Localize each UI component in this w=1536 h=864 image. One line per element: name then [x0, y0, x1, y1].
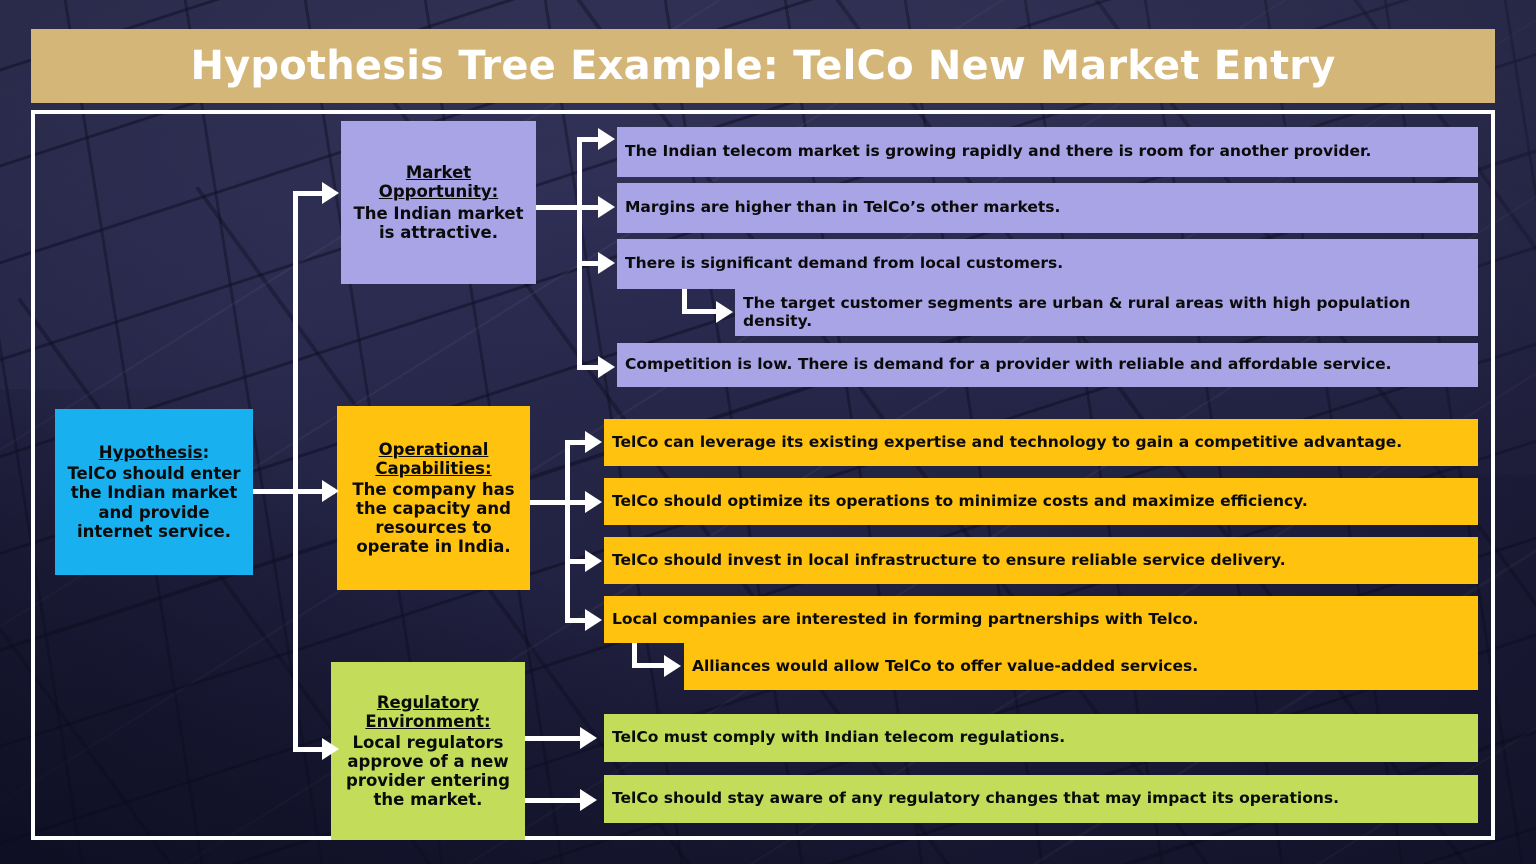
leaf-market-1-text: The Indian telecom market is growing rap… [625, 143, 1371, 161]
leaf-reg-1-text: TelCo must comply with Indian telecom re… [612, 729, 1065, 747]
leaf-ops-2-text: TelCo should optimize its operations to … [612, 493, 1308, 511]
node-market-opportunity[interactable]: Market Opportunity: The Indian market is… [341, 121, 536, 284]
node-hypothesis-colon: : [203, 443, 210, 462]
node-hypothesis-heading: Hypothesis [99, 443, 203, 462]
leaf-market-1[interactable]: The Indian telecom market is growing rap… [617, 127, 1478, 177]
leaf-ops-5-text: Alliances would allow TelCo to offer val… [692, 658, 1198, 676]
node-hypothesis-body: TelCo should enter the Indian market and… [61, 464, 247, 541]
leaf-ops-3[interactable]: TelCo should invest in local infrastruct… [604, 537, 1478, 584]
node-operational-capabilities-heading: Operational Capabilities: [343, 440, 524, 478]
node-hypothesis-root[interactable]: Hypothesis: TelCo should enter the India… [55, 409, 253, 575]
arrow-market-leaf-5 [598, 356, 615, 378]
leaf-market-2-text: Margins are higher than in TelCo’s other… [625, 199, 1060, 217]
node-operational-capabilities-body: The company has the capacity and resourc… [343, 480, 524, 557]
arrow-reg-leaf-2 [580, 789, 597, 811]
connector-ops-spine [565, 440, 570, 622]
leaf-ops-2[interactable]: TelCo should optimize its operations to … [604, 478, 1478, 525]
connector-market-out [536, 205, 582, 210]
connector-market-spine [577, 137, 582, 369]
arrow-market-leaf-1 [598, 128, 615, 150]
arrow-reg-leaf-1 [580, 727, 597, 749]
node-market-opportunity-body: The Indian market is attractive. [347, 204, 530, 242]
leaf-ops-1[interactable]: TelCo can leverage its existing expertis… [604, 419, 1478, 466]
arrow-spine-to-ops [322, 480, 339, 502]
leaf-market-5[interactable]: Competition is low. There is demand for … [617, 343, 1478, 387]
title-banner: Hypothesis Tree Example: TelCo New Marke… [31, 29, 1495, 103]
connector-root-out [253, 489, 298, 494]
node-regulatory-environment-body: Local regulators approve of a new provid… [337, 733, 519, 810]
arrow-market-leaf-3 [598, 252, 615, 274]
arrow-market-sub [716, 301, 733, 323]
arrow-ops-leaf-3 [585, 550, 602, 572]
arrow-ops-sub [664, 655, 681, 677]
connector-reg-leaf-1 [525, 736, 587, 741]
leaf-market-3-text: There is significant demand from local c… [625, 255, 1063, 273]
arrow-ops-leaf-4 [585, 609, 602, 631]
leaf-ops-1-text: TelCo can leverage its existing expertis… [612, 434, 1402, 452]
arrow-spine-to-market [322, 182, 339, 204]
leaf-reg-2[interactable]: TelCo should stay aware of any regulator… [604, 775, 1478, 823]
arrow-market-leaf-2 [598, 196, 615, 218]
leaf-market-4-text: The target customer segments are urban &… [743, 295, 1478, 331]
leaf-ops-4-text: Local companies are interested in formin… [612, 611, 1198, 629]
connector-reg-leaf-2 [525, 798, 587, 803]
node-regulatory-environment-heading: Regulatory Environment: [337, 693, 519, 731]
leaf-market-4-sub[interactable]: The target customer segments are urban &… [735, 289, 1478, 336]
leaf-ops-3-text: TelCo should invest in local infrastruct… [612, 552, 1286, 570]
slide-canvas: Hypothesis Tree Example: TelCo New Marke… [0, 0, 1536, 864]
node-hypothesis-heading-row: Hypothesis: [99, 443, 209, 462]
leaf-ops-4[interactable]: Local companies are interested in formin… [604, 596, 1478, 643]
leaf-reg-2-text: TelCo should stay aware of any regulator… [612, 790, 1339, 808]
leaf-ops-5-sub[interactable]: Alliances would allow TelCo to offer val… [684, 643, 1478, 690]
leaf-market-2[interactable]: Margins are higher than in TelCo’s other… [617, 183, 1478, 233]
arrow-spine-to-reg [322, 738, 339, 760]
connector-root-spine [293, 191, 298, 752]
arrow-ops-leaf-1 [585, 431, 602, 453]
leaf-market-3[interactable]: There is significant demand from local c… [617, 239, 1478, 289]
node-market-opportunity-heading: Market Opportunity: [347, 163, 530, 201]
leaf-market-5-text: Competition is low. There is demand for … [625, 356, 1392, 374]
page-title: Hypothesis Tree Example: TelCo New Marke… [31, 43, 1495, 89]
node-regulatory-environment[interactable]: Regulatory Environment: Local regulators… [331, 662, 525, 840]
node-operational-capabilities[interactable]: Operational Capabilities: The company ha… [337, 406, 530, 590]
leaf-reg-1[interactable]: TelCo must comply with Indian telecom re… [604, 714, 1478, 762]
arrow-ops-leaf-2 [585, 491, 602, 513]
